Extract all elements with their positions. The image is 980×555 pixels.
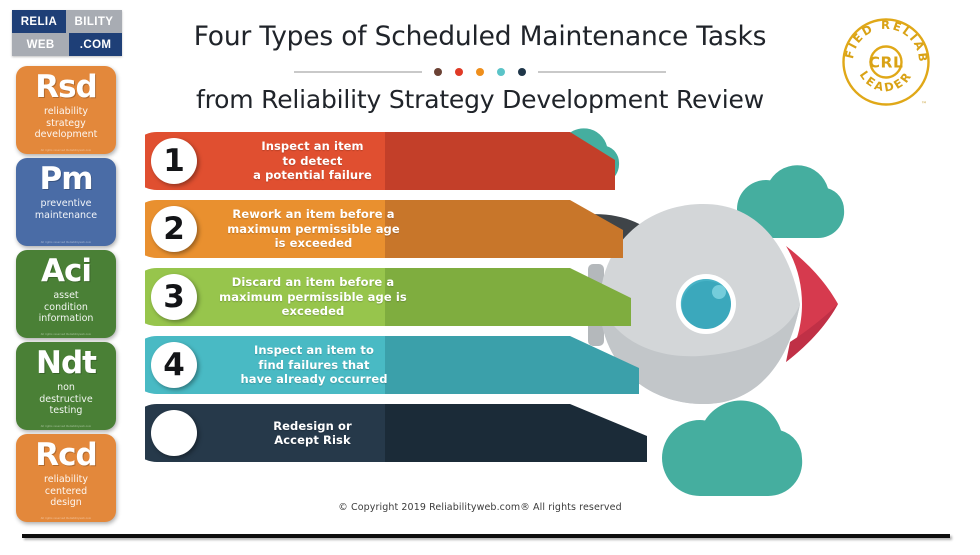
badge-abbr: Rcd: [35, 438, 96, 472]
divider-dot-1: [434, 68, 442, 76]
sidebar-badge-aci[interactable]: Aci asset condition information All righ…: [16, 250, 116, 338]
band-label-5[interactable]: Redesign or Accept Risk: [205, 410, 420, 456]
task-bands: 1 Inspect an item to detect a potential …: [145, 130, 835, 470]
badge-fineprint: All rights reserved Reliabilityweb.com: [16, 241, 116, 244]
band-label-2[interactable]: Rework an item before a maximum permissi…: [201, 206, 426, 252]
divider-rule-left: [294, 71, 422, 73]
badge-subtitle: reliability centered design: [40, 474, 92, 509]
badge-abbr: Aci: [41, 254, 91, 288]
band-number-4: 4: [151, 342, 197, 388]
reliabilityweb-logo: RELIA BILITY WEB .COM: [12, 10, 122, 56]
badge-subtitle: preventive maintenance: [31, 198, 101, 221]
badge-subtitle: non destructive testing: [35, 382, 97, 417]
svg-text:™: ™: [921, 101, 927, 108]
crl-certification-seal-icon: CERTIFIED RELIABILITY LEADER CRL ™: [840, 16, 932, 108]
title-divider: [150, 64, 810, 80]
logo-text-web: WEB: [12, 33, 69, 56]
band-number-1: 1: [151, 138, 197, 184]
divider-dot-5: [518, 68, 526, 76]
svg-text:LEADER: LEADER: [857, 68, 915, 95]
divider-dot-3: [476, 68, 484, 76]
badge-fineprint: All rights reserved Reliabilityweb.com: [16, 517, 116, 520]
logo-text-relia: RELIA: [12, 10, 66, 33]
band-number-3: 3: [151, 274, 197, 320]
logo-text-com: .COM: [69, 33, 122, 56]
band-label-1[interactable]: Inspect an item to detect a potential fa…: [205, 138, 420, 184]
band-number-2: 2: [151, 206, 197, 252]
badge-abbr: Rsd: [35, 70, 97, 104]
badge-abbr: Ndt: [36, 346, 96, 380]
band-number-5: [151, 410, 197, 456]
badge-subtitle: asset condition information: [35, 290, 98, 325]
divider-dot-4: [497, 68, 505, 76]
badge-subtitle: reliability strategy development: [31, 106, 102, 141]
svg-text:CRL: CRL: [869, 54, 904, 72]
badge-fineprint: All rights reserved Reliabilityweb.com: [16, 425, 116, 428]
copyright-notice: © Copyright 2019 Reliabilityweb.com® All…: [150, 502, 810, 513]
logo-text-bility: BILITY: [66, 10, 122, 33]
badge-fineprint: All rights reserved Reliabilityweb.com: [16, 149, 116, 152]
sidebar-badge-rcd[interactable]: Rcd reliability centered design All righ…: [16, 434, 116, 522]
logo-row-bottom: WEB .COM: [12, 33, 122, 56]
sidebar: RELIA BILITY WEB .COM Rsd reliability st…: [0, 0, 136, 550]
divider-rule-right: [538, 71, 666, 73]
infographic-canvas: RELIA BILITY WEB .COM Rsd reliability st…: [0, 0, 980, 550]
logo-row-top: RELIA BILITY: [12, 10, 122, 33]
divider-dots: [422, 68, 538, 76]
page-subtitle: from Reliability Strategy Development Re…: [150, 84, 810, 116]
bottom-rule: [22, 534, 950, 538]
page-title: Four Types of Scheduled Maintenance Task…: [150, 20, 810, 54]
sidebar-badge-rsd[interactable]: Rsd reliability strategy development All…: [16, 66, 116, 154]
band-label-3[interactable]: Discard an item before a maximum permiss…: [197, 274, 429, 320]
divider-dot-2: [455, 68, 463, 76]
sidebar-badge-ndt[interactable]: Ndt non destructive testing All rights r…: [16, 342, 116, 430]
sidebar-badge-pm[interactable]: Pm preventive maintenance All rights res…: [16, 158, 116, 246]
badge-fineprint: All rights reserved Reliabilityweb.com: [16, 333, 116, 336]
badge-abbr: Pm: [39, 162, 92, 196]
band-label-4[interactable]: Inspect an item to find failures that ha…: [203, 342, 425, 388]
